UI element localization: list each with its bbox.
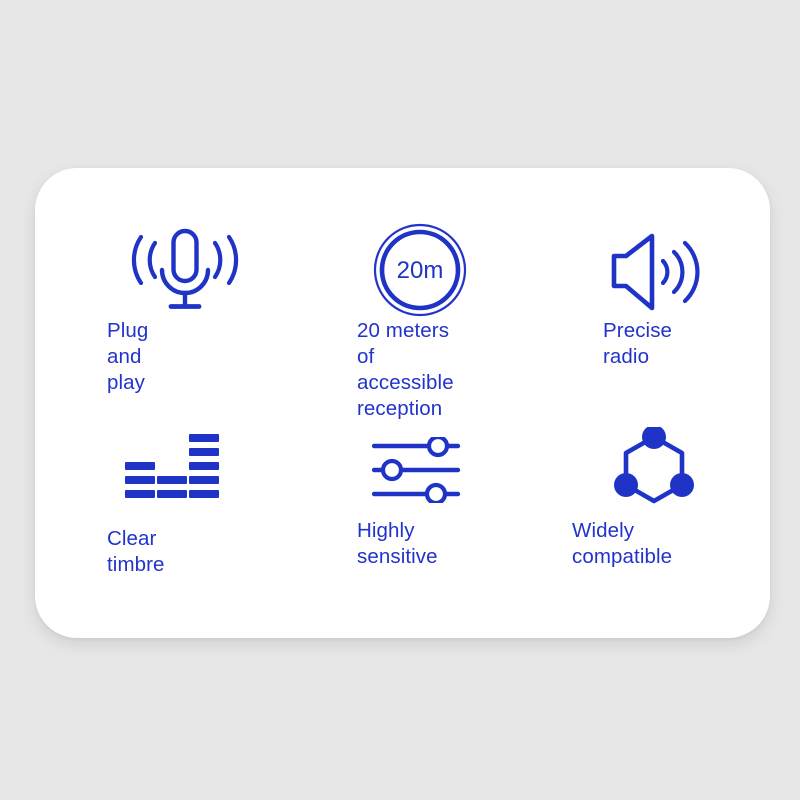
sliders-icon [372, 437, 468, 508]
speaker-icon [608, 230, 704, 321]
feature-panel-stage: Plug and play 20m 20 meters of accessibl… [0, 0, 800, 800]
feature-card: Plug and play 20m 20 meters of accessibl… [35, 168, 770, 638]
feature-label-reception-range: 20 meters of accessible reception [357, 318, 454, 422]
feature-label-widely-compatible: Widely compatible [572, 518, 672, 570]
microphone-icon [122, 225, 248, 320]
hexagon-nodes-icon [612, 427, 696, 516]
feature-label-plug-and-play: Plug and play [107, 318, 148, 396]
feature-label-clear-timbre: Clear timbre [107, 526, 165, 578]
feature-label-highly-sensitive: Highly sensitive [357, 518, 438, 570]
feature-label-precise-radio: Precise radio [603, 318, 672, 370]
range-badge-text: 20m [397, 257, 444, 284]
equalizer-icon [123, 432, 227, 509]
range-badge-icon: 20m [368, 218, 472, 327]
